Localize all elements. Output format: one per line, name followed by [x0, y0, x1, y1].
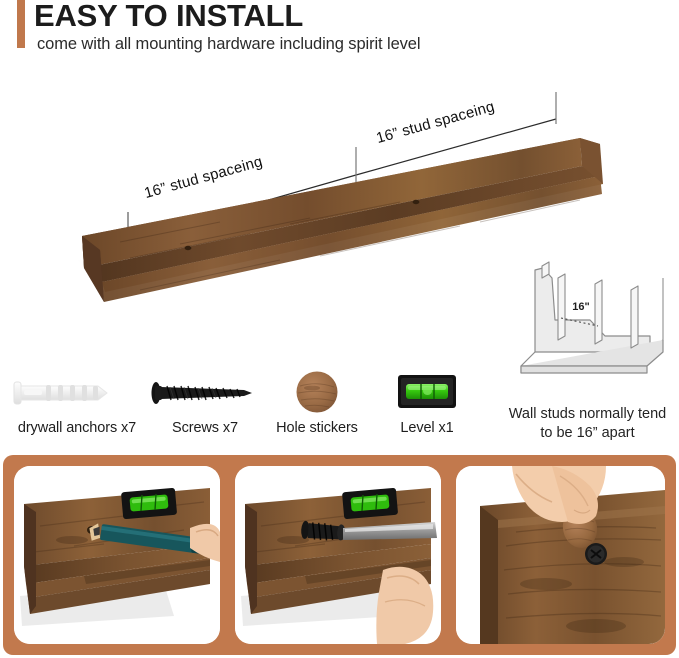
hardware-label-hole-stickers: Hole stickers — [258, 420, 376, 436]
hardware-item-drywall-anchors: drywall anchors x7 — [2, 370, 152, 436]
hardware-label-screws: Screws x7 — [140, 420, 270, 436]
included-hardware-row: drywall anchors x7 — [0, 370, 490, 442]
drywall-anchor-icon — [2, 370, 152, 416]
wall-studs-caption: Wall studs normally tend to be 16” apart — [505, 405, 670, 443]
hardware-item-screws: Screws x7 — [140, 370, 270, 436]
wall-studs-diagram: 16" — [495, 248, 675, 383]
installation-steps-strip — [3, 455, 676, 655]
spirit-level-icon — [368, 370, 486, 416]
hole-sticker-icon — [258, 370, 376, 416]
step-panel-mark-holes-with-pencil — [14, 466, 220, 644]
page-title: EASY TO INSTALL — [34, 0, 303, 34]
hardware-label-drywall-anchors: drywall anchors x7 — [2, 420, 152, 436]
hardware-label-level: Level x1 — [368, 420, 486, 436]
title-accent-bar — [17, 0, 25, 48]
header: EASY TO INSTALL come with all mounting h… — [0, 0, 679, 62]
hardware-item-hole-stickers: Hole stickers — [258, 370, 376, 436]
screw-icon — [140, 370, 270, 416]
step-panel-drive-screw-with-screwdriver — [235, 466, 441, 644]
svg-text:16": 16" — [572, 301, 589, 313]
hardware-item-level: Level x1 — [368, 370, 486, 436]
page-subtitle: come with all mounting hardware includin… — [37, 33, 420, 55]
step-panel-apply-hole-sticker — [456, 466, 665, 644]
